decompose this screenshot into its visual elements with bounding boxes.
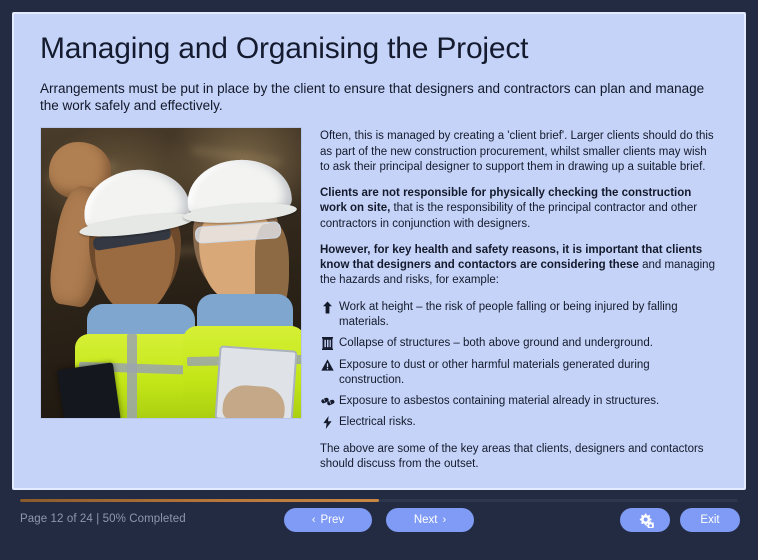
action-buttons: Exit (620, 508, 740, 532)
body-columns: Often, this is managed by creating a 'cl… (40, 127, 718, 483)
text-column: Often, this is managed by creating a 'cl… (320, 127, 718, 483)
list-item: Exposure to asbestos containing material… (320, 394, 718, 409)
next-button-label: Next (414, 514, 438, 526)
clipboard (57, 363, 121, 420)
photo-column (40, 127, 302, 419)
building-icon (320, 336, 335, 351)
paragraph-client-brief: Often, this is managed by creating a 'cl… (320, 129, 718, 175)
list-item: Electrical risks. (320, 415, 718, 430)
list-item: Work at height – the risk of people fall… (320, 300, 718, 331)
worker-left-vest-stripe (127, 334, 137, 419)
cogs-icon (637, 513, 654, 528)
closing-paragraph: The above are some of the key areas that… (320, 442, 718, 473)
paragraph-client-brief-text: Often, this is managed by creating a 'cl… (320, 130, 714, 173)
progress-bar-fill (20, 499, 379, 502)
intro-paragraph: Arrangements must be put in place by the… (40, 80, 718, 116)
footer-bar: Page 12 of 24 | 50% Completed ‹ Prev Nex… (0, 490, 758, 560)
asbestos-fibres-icon (320, 394, 335, 409)
chevron-left-icon: ‹ (312, 515, 316, 526)
next-button[interactable]: Next › (386, 508, 474, 532)
list-item-label: Work at height – the risk of people fall… (339, 301, 678, 328)
page-title: Managing and Organising the Project (40, 32, 718, 66)
up-arrow-icon (320, 300, 335, 315)
list-item: Exposure to dust or other harmful materi… (320, 358, 718, 389)
list-item-label: Electrical risks. (339, 416, 416, 428)
slide-card: Managing and Organising the Project Arra… (12, 12, 746, 490)
list-item-label: Exposure to dust or other harmful materi… (339, 359, 650, 386)
construction-workers-photo (40, 127, 302, 419)
settings-button[interactable] (620, 508, 670, 532)
exit-button[interactable]: Exit (680, 508, 740, 532)
list-item-label: Collapse of structures – both above grou… (339, 337, 653, 349)
paragraph-client-responsibility: Clients are not responsible for physical… (320, 186, 718, 232)
list-item-label: Exposure to asbestos containing material… (339, 395, 659, 407)
paragraph-health-safety: However, for key health and safety reaso… (320, 243, 718, 289)
warning-triangle-icon (320, 358, 335, 373)
exit-button-label: Exit (700, 514, 719, 526)
chevron-right-icon: › (442, 515, 446, 526)
hazard-list: Work at height – the risk of people fall… (320, 300, 718, 431)
prev-button[interactable]: ‹ Prev (284, 508, 372, 532)
lightning-bolt-icon (320, 415, 335, 430)
list-item: Collapse of structures – both above grou… (320, 336, 718, 351)
progress-bar-track (20, 499, 738, 502)
slide-content: Managing and Organising the Project Arra… (14, 14, 744, 483)
prev-button-label: Prev (321, 514, 345, 526)
